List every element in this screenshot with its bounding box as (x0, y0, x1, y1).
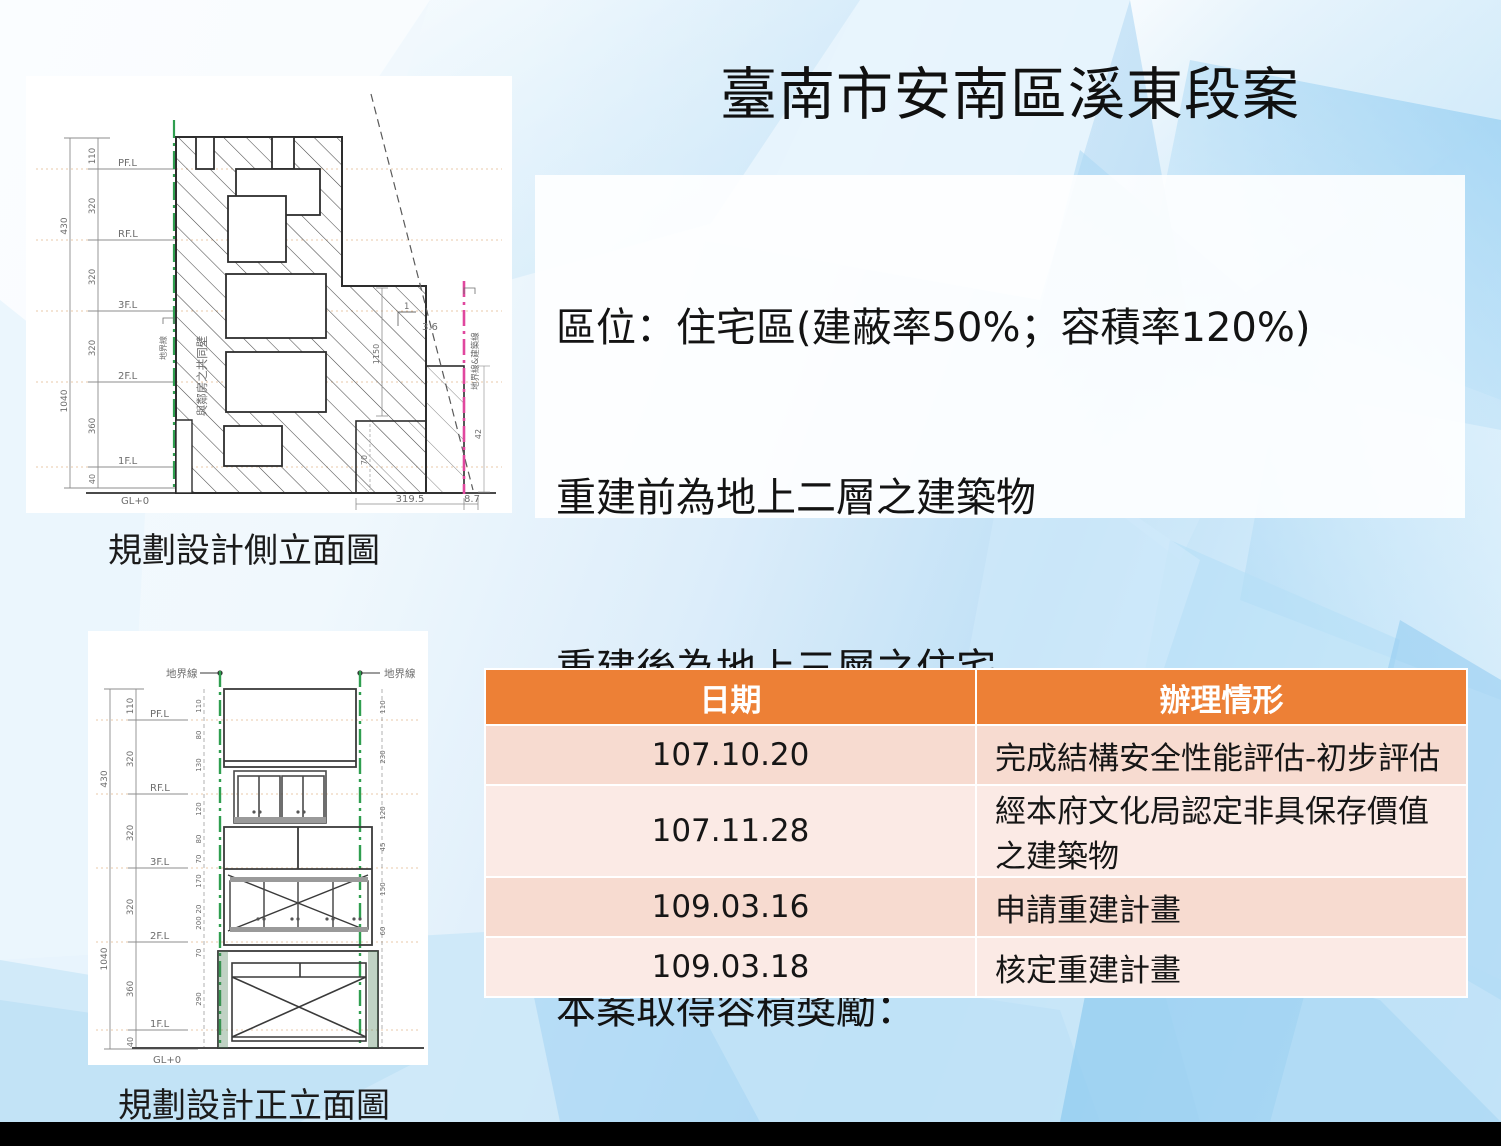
column-header-date: 日期 (485, 669, 976, 725)
front-elevation-drawing: 430 1040 110 320 320 320 360 40 PF.L RF.… (88, 631, 428, 1065)
body-line-2: 重建前為地上二層之建築物 (556, 470, 1476, 527)
svg-text:PF.L: PF.L (118, 158, 137, 169)
svg-text:1150: 1150 (372, 344, 381, 364)
front-elevation-caption: 規劃設計正立面圖 (118, 1078, 390, 1127)
svg-text:8.7: 8.7 (464, 494, 480, 505)
svg-text:70: 70 (195, 949, 203, 958)
svg-text:地界線: 地界線 (166, 667, 198, 680)
svg-text:320: 320 (88, 269, 98, 285)
svg-text:320: 320 (126, 899, 136, 915)
svg-text:1: 1 (404, 302, 409, 312)
svg-text:360: 360 (88, 418, 98, 434)
svg-text:130: 130 (195, 758, 203, 771)
cell-date: 109.03.18 (485, 937, 976, 997)
side-elevation-caption: 規劃設計側立面圖 (108, 523, 380, 572)
svg-text:200: 200 (195, 916, 203, 929)
svg-text:320: 320 (88, 198, 98, 214)
svg-text:110: 110 (88, 148, 98, 164)
svg-text:110: 110 (126, 698, 136, 714)
table-row: 107.11.28 經本府文化局認定非具保存價值之建築物 (485, 785, 1467, 877)
svg-text:地界線: 地界線 (384, 667, 416, 680)
svg-text:2F.L: 2F.L (150, 931, 170, 942)
svg-text:120: 120 (195, 802, 203, 815)
svg-text:PF.L: PF.L (150, 709, 169, 720)
svg-text:GL+0: GL+0 (121, 496, 149, 507)
cell-status: 核定重建計畫 (976, 937, 1467, 997)
svg-text:320: 320 (126, 825, 136, 841)
svg-text:3.6: 3.6 (422, 322, 438, 333)
table-row: 107.10.20 完成結構安全性能評估-初步評估 (485, 725, 1467, 785)
page-title: 臺南市安南區溪東段案 (560, 64, 1460, 128)
svg-text:150: 150 (379, 882, 387, 895)
svg-text:290: 290 (195, 992, 203, 1005)
cell-date: 109.03.16 (485, 877, 976, 937)
svg-text:1040: 1040 (60, 389, 70, 412)
svg-text:230: 230 (379, 750, 387, 763)
slide-canvas: 臺南市安南區溪東段案 區位：住宅區(建蔽率50%；容積率120%) 重建前為地上… (0, 0, 1501, 1146)
table-row: 109.03.16 申請重建計畫 (485, 877, 1467, 937)
svg-text:430: 430 (100, 770, 110, 787)
svg-text:3F.L: 3F.L (118, 300, 138, 311)
svg-text:45: 45 (379, 843, 387, 852)
svg-text:320: 320 (88, 340, 98, 356)
cell-date: 107.10.20 (485, 725, 976, 785)
svg-text:80: 80 (195, 731, 203, 740)
svg-text:110: 110 (379, 700, 387, 713)
svg-text:3F.L: 3F.L (150, 857, 170, 868)
svg-text:1F.L: 1F.L (150, 1019, 170, 1030)
svg-text:70: 70 (360, 455, 369, 465)
svg-text:319.5: 319.5 (396, 494, 425, 505)
svg-text:RF.L: RF.L (150, 783, 170, 794)
svg-text:60: 60 (379, 927, 387, 936)
cell-date: 107.11.28 (485, 785, 976, 877)
svg-text:2F.L: 2F.L (118, 371, 138, 382)
svg-text:80: 80 (195, 835, 203, 844)
side-elevation-drawing: 430 1040 110 320 320 320 360 40 PF.L RF.… (26, 76, 512, 513)
svg-text:RF.L: RF.L (118, 229, 138, 240)
cell-status: 申請重建計畫 (976, 877, 1467, 937)
bottom-bar (0, 1122, 1501, 1146)
svg-text:430: 430 (60, 217, 70, 234)
progress-table: 日期 辦理情形 107.10.20 完成結構安全性能評估-初步評估 107.11… (484, 668, 1468, 998)
svg-text:1040: 1040 (100, 947, 110, 970)
svg-text:20: 20 (195, 905, 203, 914)
svg-text:40: 40 (126, 1037, 135, 1047)
body-line-1: 區位：住宅區(建蔽率50%；容積率120%) (556, 300, 1476, 357)
cell-status: 完成結構安全性能評估-初步評估 (976, 725, 1467, 785)
svg-text:360: 360 (126, 981, 136, 997)
svg-text:320: 320 (126, 751, 136, 767)
svg-text:42: 42 (474, 429, 483, 439)
body-text: 區位：住宅區(建蔽率50%；容積率120%) 重建前為地上二層之建築物 重建後為… (556, 186, 1476, 1146)
svg-text:110: 110 (195, 699, 203, 712)
column-header-status: 辦理情形 (976, 669, 1467, 725)
svg-text:地界線&建築線: 地界線&建築線 (470, 332, 481, 390)
svg-text:與鄰房之共同壁: 與鄰房之共同壁 (195, 336, 209, 417)
cell-status: 經本府文化局認定非具保存價值之建築物 (976, 785, 1467, 877)
svg-text:GL+0: GL+0 (153, 1055, 181, 1065)
svg-text:40: 40 (88, 474, 97, 484)
svg-text:1F.L: 1F.L (118, 456, 138, 467)
table-header-row: 日期 辦理情形 (485, 669, 1467, 725)
svg-text:170: 170 (195, 874, 203, 887)
table-row: 109.03.18 核定重建計畫 (485, 937, 1467, 997)
svg-text:地界線: 地界線 (158, 336, 168, 360)
svg-text:120: 120 (379, 806, 387, 819)
svg-text:70: 70 (195, 855, 203, 864)
